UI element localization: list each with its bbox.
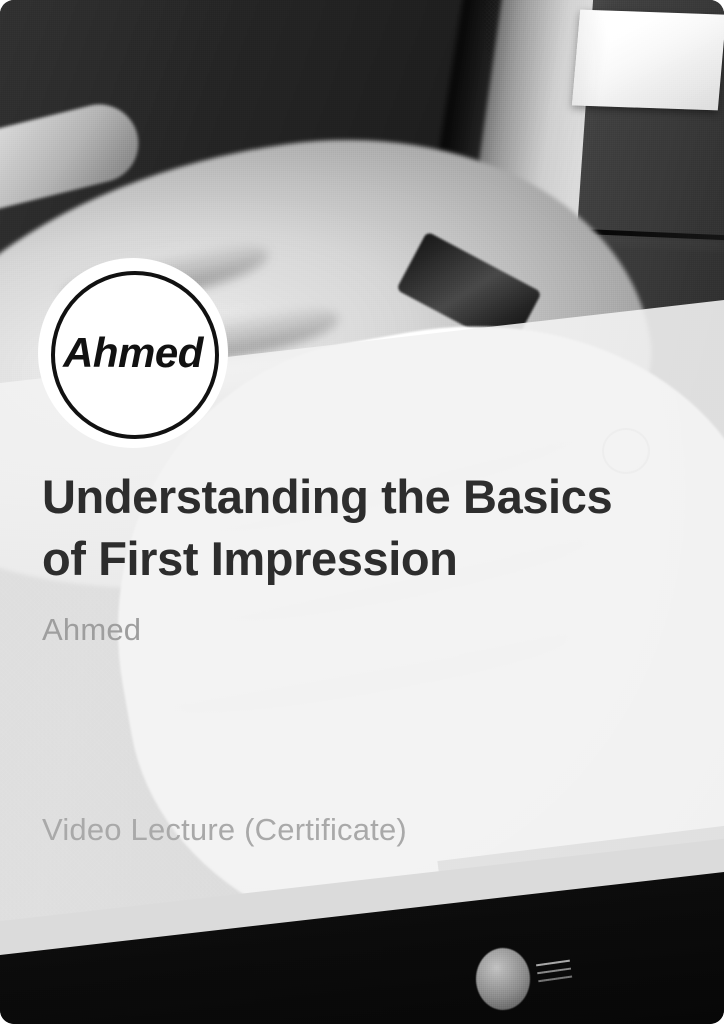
course-author: Ahmed [42,612,141,648]
brand-badge[interactable]: Ahmed [38,258,228,448]
course-card[interactable]: Ahmed Understanding the Basics of First … [0,0,724,1024]
course-format: Video Lecture (Certificate) [42,812,407,848]
course-title: Understanding the Basics of First Impres… [42,466,642,590]
badge-label: Ahmed [63,332,203,374]
